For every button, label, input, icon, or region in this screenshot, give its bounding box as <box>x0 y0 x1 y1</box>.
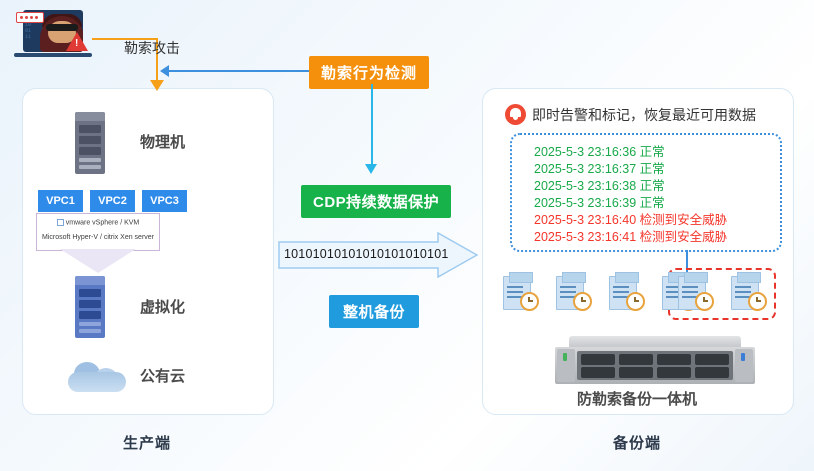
detection-log-box: 2025-5-3 23:16:36 正常 2025-5-3 23:16:37 正… <box>510 133 782 252</box>
production-zone-label: 生产端 <box>22 432 272 453</box>
hypervisor-row-2: Microsoft Hyper-V / citrix Xen server <box>37 234 159 241</box>
production-item-label-virtualization: 虚拟化 <box>140 296 185 317</box>
vmware-square-icon <box>57 219 64 226</box>
attack-arrow-down-icon <box>150 80 164 91</box>
log-time: 2025-5-3 23:16:39 <box>534 196 640 210</box>
bell-icon <box>505 104 526 125</box>
log-status: 正常 <box>640 179 665 193</box>
file-clock-icon <box>731 272 765 310</box>
file-clock-icon <box>556 272 590 310</box>
backup-zone-label: 备份端 <box>482 432 792 453</box>
hypervisor-row-1: vmware vSphere / KVM <box>37 219 159 226</box>
log-time: 2025-5-3 23:16:41 <box>534 230 640 244</box>
log-status: 检测到安全威胁 <box>640 230 728 244</box>
mask <box>46 24 78 31</box>
alert-row: 即时告警和标记，恢复最近可用数据 <box>505 103 775 127</box>
cloud-icon <box>68 358 126 392</box>
log-time: 2025-5-3 23:16:36 <box>534 145 640 159</box>
hypervisor-row-1-text: vmware vSphere / KVM <box>66 219 140 226</box>
hypervisor-row-2-text: Microsoft Hyper-V / citrix Xen server <box>42 234 154 241</box>
server-rack-icon <box>75 112 105 174</box>
log-time: 2025-5-3 23:16:40 <box>534 213 640 227</box>
snapshot-list-flagged <box>678 272 768 316</box>
server-blue-icon <box>75 276 105 338</box>
detection-badge[interactable]: 勒索行为检测 <box>309 56 429 89</box>
detection-line-vertical <box>371 84 373 166</box>
detection-line <box>164 70 309 72</box>
production-item-label-public-cloud: 公有云 <box>140 365 185 386</box>
log-status: 正常 <box>640 162 665 176</box>
file-clock-icon <box>678 272 712 310</box>
file-clock-icon <box>609 272 643 310</box>
log-status: 正常 <box>640 145 665 159</box>
hacker-laptop-icon: 01100111 ! <box>14 10 92 62</box>
vpc-tag-3: VPC3 <box>142 190 187 212</box>
hypervisor-logo-box: vmware vSphere / KVM Microsoft Hyper-V /… <box>36 213 160 251</box>
password-bar-icon <box>16 12 44 23</box>
vpc-tag-2: VPC2 <box>90 190 135 212</box>
vpc-tag-1: VPC1 <box>38 190 83 212</box>
funnel-shape <box>60 249 136 273</box>
whole-machine-backup-badge[interactable]: 整机备份 <box>329 295 419 328</box>
log-time: 2025-5-3 23:16:37 <box>534 162 640 176</box>
file-clock-icon <box>503 272 537 310</box>
binary-data-label: 10101010101010101010101 <box>284 247 454 261</box>
log-status: 检测到安全威胁 <box>640 213 728 227</box>
rack-appliance-icon <box>555 336 755 384</box>
alert-text: 即时告警和标记，恢复最近可用数据 <box>532 105 756 125</box>
laptop-base <box>14 53 92 57</box>
detection-arrow-left-icon <box>160 65 169 77</box>
appliance-label: 防勒索备份一体机 <box>482 388 792 409</box>
log-row: 2025-5-3 23:16:41 检测到安全威胁 <box>534 226 727 245</box>
log-status: 正常 <box>640 196 665 210</box>
cdp-badge[interactable]: CDP持续数据保护 <box>301 185 451 218</box>
production-item-label-physical: 物理机 <box>140 131 185 152</box>
detection-arrow-down-icon <box>365 164 377 174</box>
warning-exclamation: ! <box>75 39 78 49</box>
attack-label: 勒索攻击 <box>124 38 180 58</box>
log-time: 2025-5-3 23:16:38 <box>534 179 640 193</box>
